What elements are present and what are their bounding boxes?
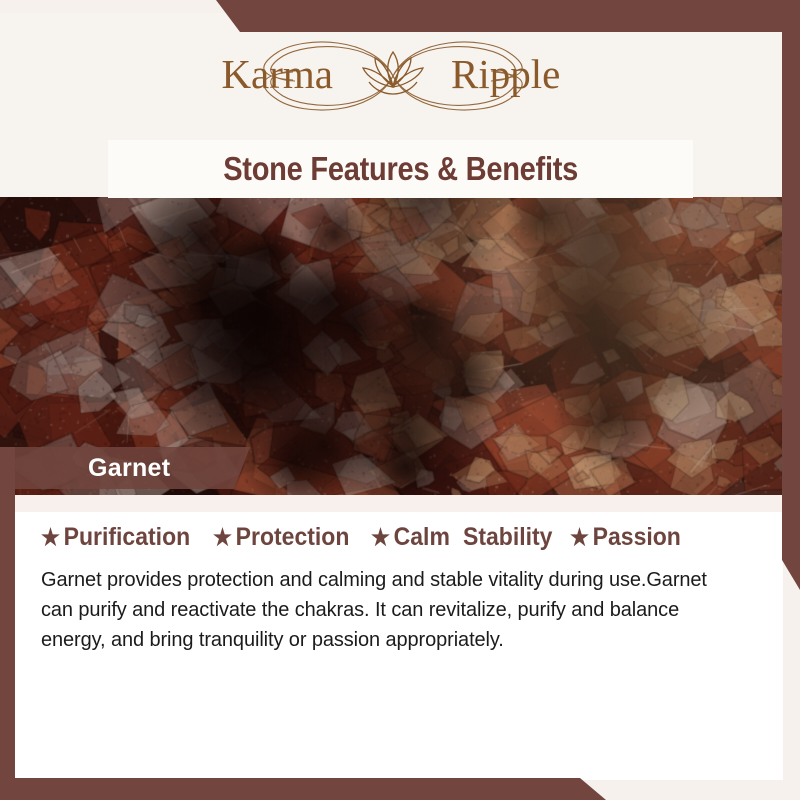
frame-left-accent [0,447,15,800]
lotus-icon [363,52,423,94]
brand-logo: Karma Ripple [0,28,785,124]
benefit-calm: ★Calm [371,523,450,552]
description-card: ★Purification★Protection★CalmStability★P… [15,495,783,780]
logo-svg: Karma Ripple [183,30,603,122]
stone-name: Garnet [88,454,170,483]
benefit-stability: Stability [463,523,552,552]
benefit-label: Purification [64,523,191,552]
benefits-row: ★Purification★Protection★CalmStability★P… [41,523,757,552]
benefit-label: Passion [593,523,681,552]
star-icon: ★ [570,526,589,549]
benefit-protection: ★Protection [213,523,349,552]
stone-name-band: Garnet [0,447,250,489]
frame-bottom-accent [0,778,800,800]
logo-word-left: Karma [221,51,333,97]
page-title: Stone Features & Benefits [223,150,578,188]
benefit-label: Protection [236,523,350,552]
benefit-purification: ★Purification [41,523,190,552]
star-icon: ★ [213,526,232,549]
poster-canvas: Karma Ripple Stone Features & Benefits G… [0,0,800,800]
star-icon: ★ [41,526,60,549]
logo-word-right: Ripple [451,51,560,97]
frame-right-accent [782,0,800,590]
benefit-label: Calm [394,523,450,552]
benefit-label: Stability [463,523,552,552]
benefit-passion: ★Passion [570,523,681,552]
description-text: Garnet provides protection and calming a… [41,565,735,655]
page-title-band: Stone Features & Benefits [108,140,693,198]
star-icon: ★ [371,526,390,549]
